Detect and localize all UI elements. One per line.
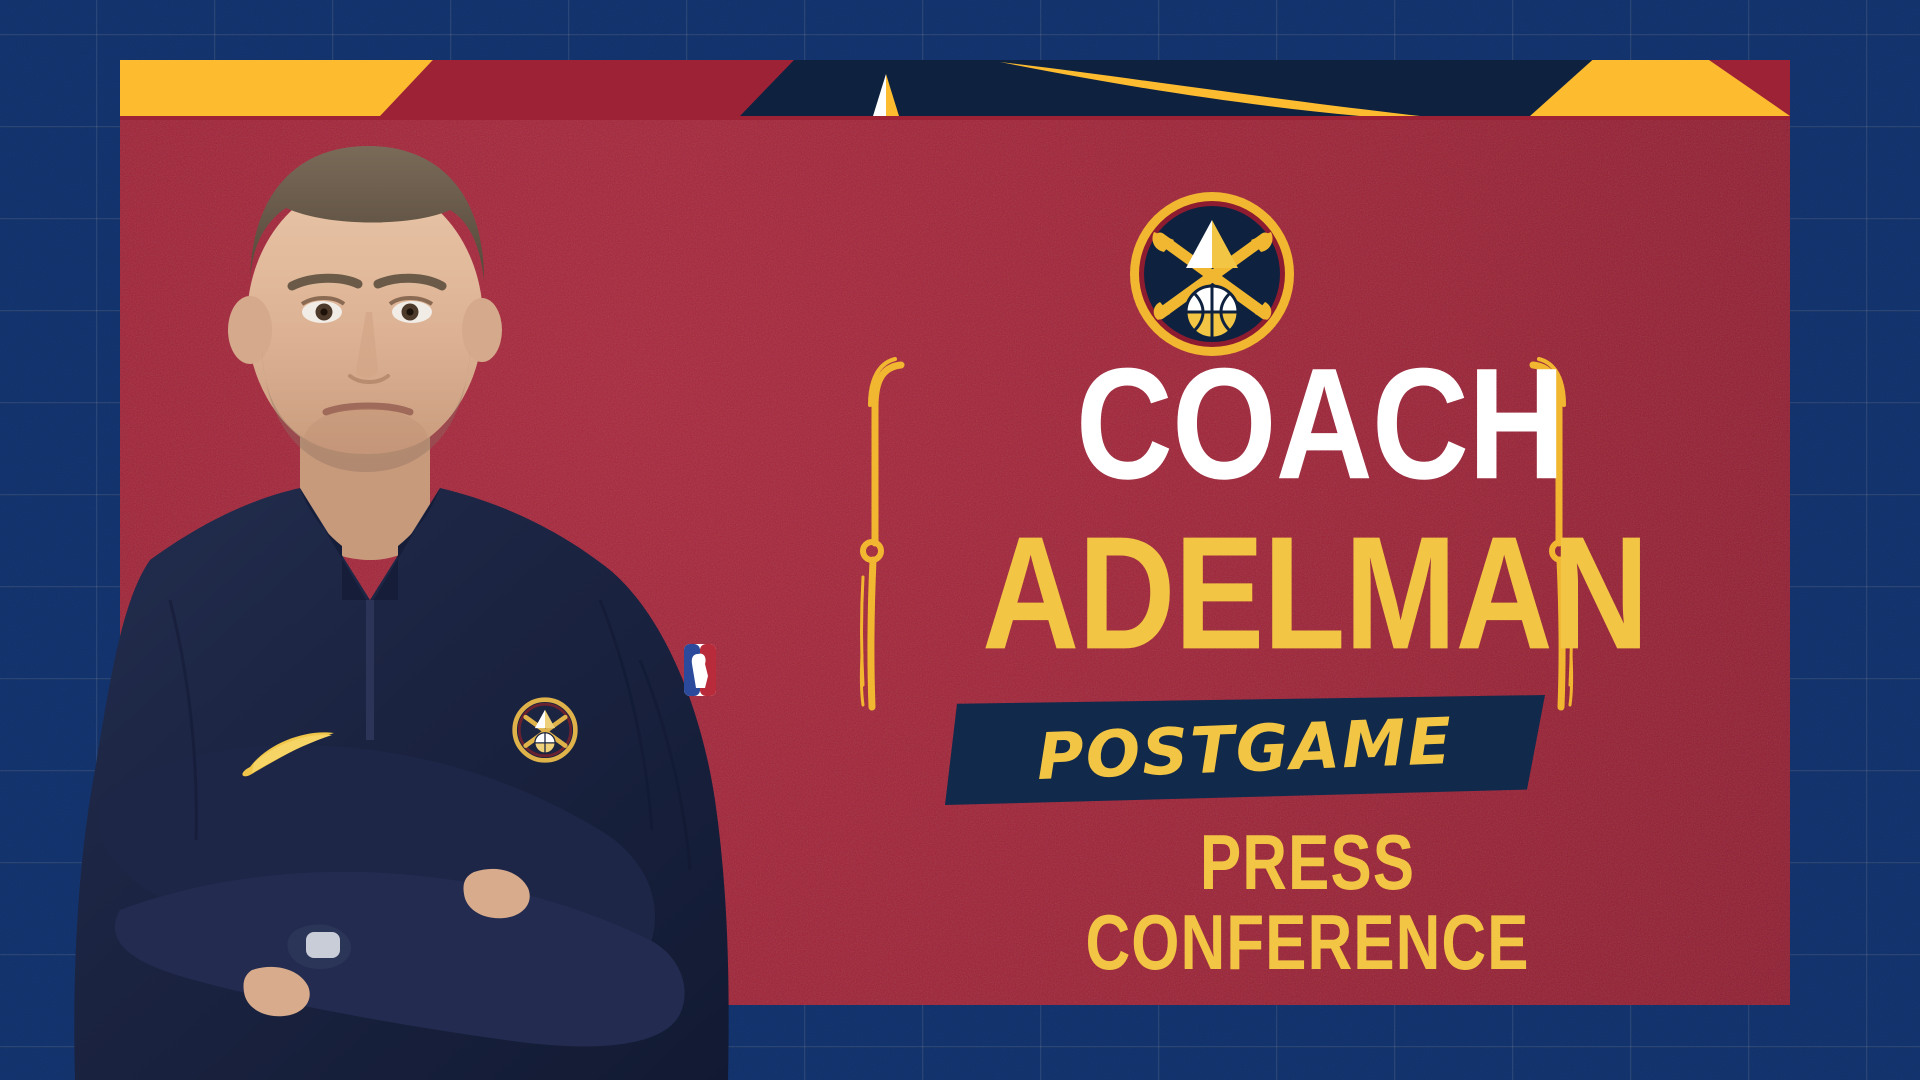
nba-logo-icon bbox=[684, 644, 716, 696]
coach-figure bbox=[74, 146, 728, 1080]
zipper bbox=[366, 600, 374, 740]
subtitle-conference: CONFERENCE bbox=[855, 905, 1760, 983]
headline-adelman: ADELMAN bbox=[892, 513, 1739, 674]
subtitle-press: PRESS bbox=[855, 825, 1760, 903]
coach-portrait bbox=[0, 40, 830, 1080]
nuggets-pickaxe-logo bbox=[1128, 190, 1296, 358]
wristwatch bbox=[306, 932, 340, 958]
headline-coach: COACH bbox=[989, 345, 1652, 503]
nuggets-chest-logo bbox=[512, 697, 578, 763]
gold-swoosh-icon bbox=[1000, 60, 1420, 116]
mountain-peak-icon bbox=[865, 74, 909, 116]
title-block: COACH ADELMAN POSTGAME PRESS CONFERENCE bbox=[855, 345, 1760, 995]
title-card-graphic: COACH ADELMAN POSTGAME PRESS CONFERENCE bbox=[0, 0, 1920, 1080]
